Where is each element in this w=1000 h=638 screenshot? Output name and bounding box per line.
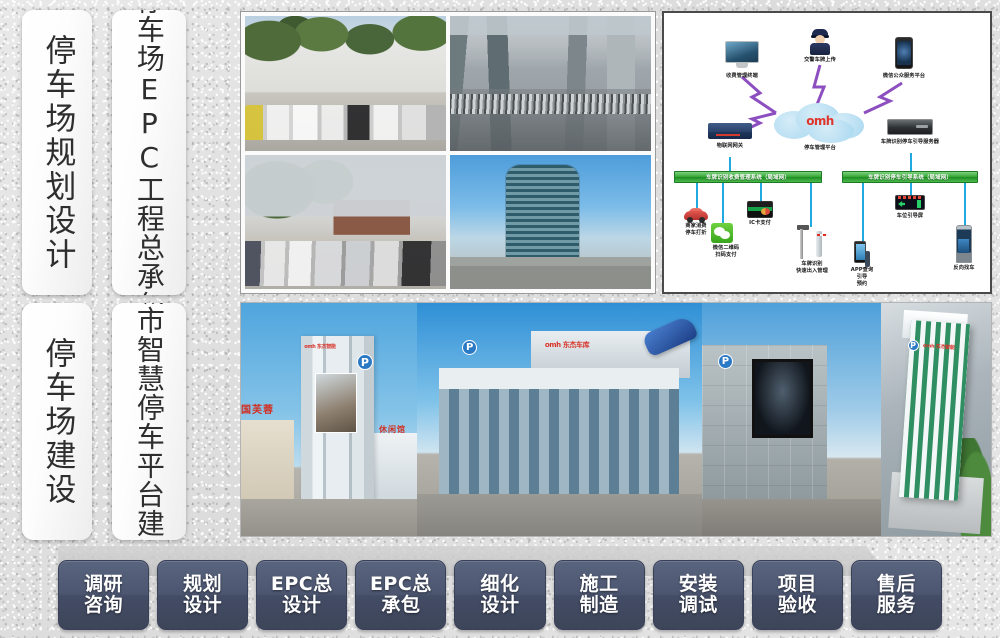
connector-line [729, 157, 731, 171]
item-label-space-guide-screen: 车位引导屏 [877, 213, 943, 220]
monitor-icon [725, 41, 759, 69]
node-label-iot-gateway: 物联网网关 [695, 143, 765, 150]
omh-brand-label: omh 东杰智能 [304, 343, 336, 350]
process-step-bar: 调研 咨询 规划 设计 EPC总 设计 EPC总 承包 细化 设计 施工 制造 … [58, 560, 942, 630]
led-screen [752, 359, 813, 438]
kiosk-icon [956, 225, 972, 263]
slide-root: 停车场规划设计 停车场EPC工程总承包 停车场建设 城市智慧停车平台建设 [0, 0, 1000, 638]
barrier-gate-icon [797, 225, 823, 259]
step-detailed-design[interactable]: 细化 设计 [454, 560, 545, 630]
item-label-app-query-guide-booking: APP查询 引导 预约 [834, 267, 890, 288]
step-research-consulting[interactable]: 调研 咨询 [58, 560, 149, 630]
ground-plane [241, 499, 417, 536]
item-label-ic-card-payment: IC卡支付 [734, 220, 786, 227]
app-phone-icon [854, 241, 870, 267]
step-epc-contracting[interactable]: EPC总 承包 [355, 560, 446, 630]
step-construction-manufacturing[interactable]: 施工 制造 [554, 560, 645, 630]
rendering-led-screen-facade: P [702, 303, 882, 536]
connector-line [964, 183, 966, 227]
connector-line [696, 183, 698, 209]
store-sign-right: 休闲馆 [379, 424, 406, 435]
item-label-reverse-car-finding: 反向找车 [936, 265, 992, 272]
server-icon [887, 119, 933, 135]
parking-sign-icon: P [462, 340, 477, 355]
connector-line [722, 183, 724, 223]
connector-line [862, 183, 864, 243]
parking-sign-icon: P [908, 340, 919, 351]
omh-brand-logo: omh [806, 114, 834, 128]
sidebar-card-smart-parking-platform[interactable]: 城市智慧停车平台建设 [112, 303, 186, 540]
wechat-icon [711, 223, 733, 243]
glass-facade [439, 368, 679, 498]
sidebar-card-parking-planning-design[interactable]: 停车场规划设计 [22, 10, 92, 295]
step-project-acceptance[interactable]: 项目 验收 [752, 560, 843, 630]
sidebar-card-label: 停车场规划设计 [41, 34, 74, 272]
ic-card-icon [747, 201, 773, 218]
billboard [315, 373, 357, 434]
rendering-garage-facade: omh 东杰车库 P [417, 303, 702, 536]
rendering-aerial-tower: omh 东杰智能 P [881, 303, 991, 536]
low-building-right [371, 433, 417, 508]
system-bar-parking-guidance[interactable]: 车牌识别停车引导系统（局域网） [842, 171, 978, 183]
step-installation-commissioning[interactable]: 安装 调试 [653, 560, 744, 630]
sidebar-card-parking-construction[interactable]: 停车场建设 [22, 303, 92, 540]
step-after-sales-service[interactable]: 售后 服务 [851, 560, 942, 630]
store-sign-left: 国芙蓉 [241, 401, 274, 416]
system-architecture-diagram-panel: 收费管理终端 交警车牌上传 微信公众服务平台 omh 停车管理平台 物联网网关 [662, 11, 992, 294]
photo-glass-tower [450, 155, 651, 290]
rendering-tower-with-billboard: omh 东杰智能 P 国芙蓉 休闲馆 [241, 303, 417, 536]
photo-aerial-city-parking [450, 16, 651, 151]
sidebar-card-label: 停车场EPC工程总承包 [134, 10, 164, 295]
connector-line [810, 183, 812, 227]
police-officer-icon [810, 29, 830, 55]
parking-sign-icon: P [357, 354, 373, 370]
node-label-charging-terminal: 收费管理终端 [707, 73, 777, 80]
sidebar-card-label: 城市智慧停车平台建设 [134, 303, 164, 540]
connector-line [760, 183, 762, 203]
step-planning-design[interactable]: 规划 设计 [157, 560, 248, 630]
iot-gateway-icon [708, 123, 752, 139]
low-building [241, 420, 294, 509]
architectural-renderings-panel: omh 东杰智能 P 国芙蓉 休闲馆 omh 东杰车库 P P omh 东杰智能 [240, 302, 992, 537]
node-label-parking-management-platform: 停车管理平台 [780, 145, 860, 152]
node-label-wechat-public-platform: 微信公众服务平台 [861, 73, 947, 80]
sidebar-card-label: 停车场建设 [41, 337, 74, 507]
system-bar-charging-management[interactable]: 车牌识别收费管理系统（局域网） [674, 171, 822, 183]
node-label-lpr-guidance-server: 车牌识别停车引导服务器 [858, 139, 962, 146]
ground-plane [702, 499, 882, 536]
smartphone-icon [895, 37, 913, 69]
red-car-icon [684, 207, 708, 223]
photo-parking-lot-trees [245, 16, 446, 151]
connector-line [910, 153, 912, 171]
guide-screen-icon [895, 195, 925, 210]
photo-brick-building-parking [245, 155, 446, 290]
sidebar-card-parking-epc-contracting[interactable]: 停车场EPC工程总承包 [112, 10, 186, 295]
step-epc-design[interactable]: EPC总 设计 [256, 560, 347, 630]
cloud-platform-icon: omh [772, 101, 868, 143]
ground-plane [417, 494, 702, 536]
photo-grid-panel [240, 11, 656, 294]
photo-grid [245, 16, 651, 289]
omh-brand-label: omh 东杰车库 [545, 340, 589, 350]
node-label-traffic-police-upload: 交警车牌上传 [784, 57, 856, 64]
item-label-wechat-qr-payment: 微信二维码 扫码支付 [694, 245, 758, 259]
